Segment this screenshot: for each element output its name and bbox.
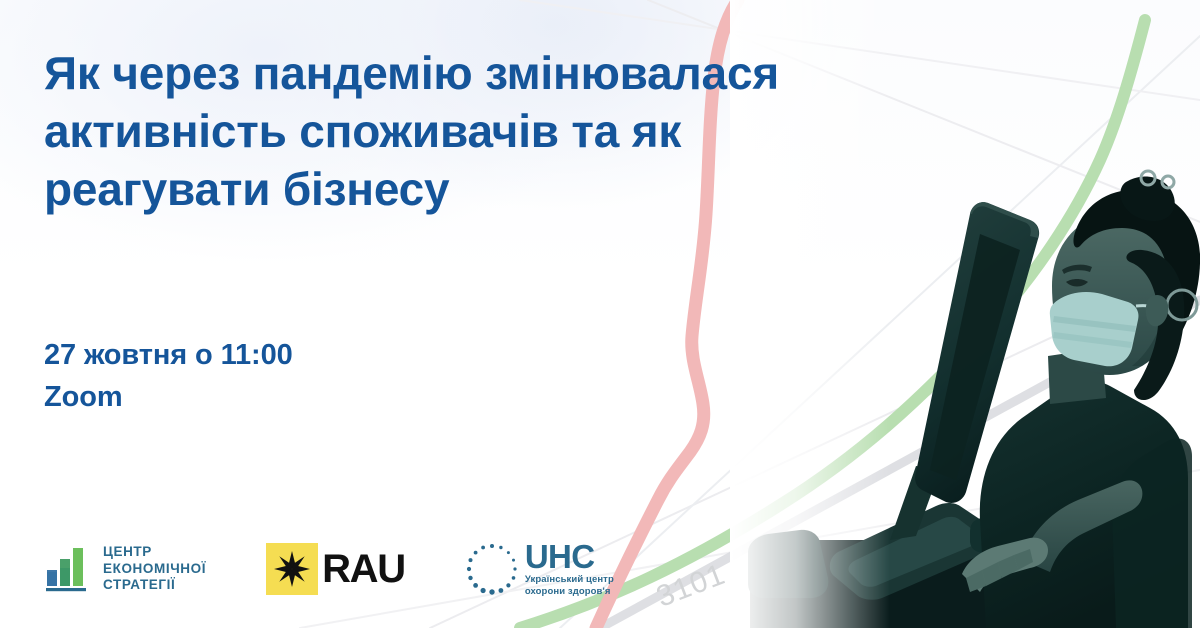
page-title: Як через пандемію змінювалася активність…: [44, 44, 924, 218]
logo-uhc-wordmark: UHC: [525, 541, 614, 572]
event-details: 27 жовтня о 11:00 Zoom: [44, 334, 293, 418]
logo-uhc-subtitle: Український центр охорони здоров'я: [525, 574, 614, 597]
bar-chart-icon: [46, 546, 94, 592]
webinar-banner: 3101: [0, 0, 1200, 628]
event-platform: Zoom: [44, 376, 293, 418]
eight-point-star-icon: [273, 550, 311, 588]
partner-logo-row: ЦЕНТР ЕКОНОМІЧНОЇ СТРАТЕГІЇ: [46, 534, 614, 604]
logo-rau[interactable]: RAU: [266, 543, 405, 595]
logo-ces-text: ЦЕНТР ЕКОНОМІЧНОЇ СТРАТЕГІЇ: [103, 544, 206, 594]
logo-ces[interactable]: ЦЕНТР ЕКОНОМІЧНОЇ СТРАТЕГІЇ: [46, 544, 206, 594]
event-date-time: 27 жовтня о 11:00: [44, 334, 293, 376]
rau-badge: [266, 543, 318, 595]
logo-rau-wordmark: RAU: [322, 549, 405, 589]
logo-uhc[interactable]: UHC Український центр охорони здоров'я: [465, 541, 614, 597]
logo-uhc-text: UHC Український центр охорони здоров'я: [525, 541, 614, 597]
dotted-circle-icon: [465, 542, 519, 596]
